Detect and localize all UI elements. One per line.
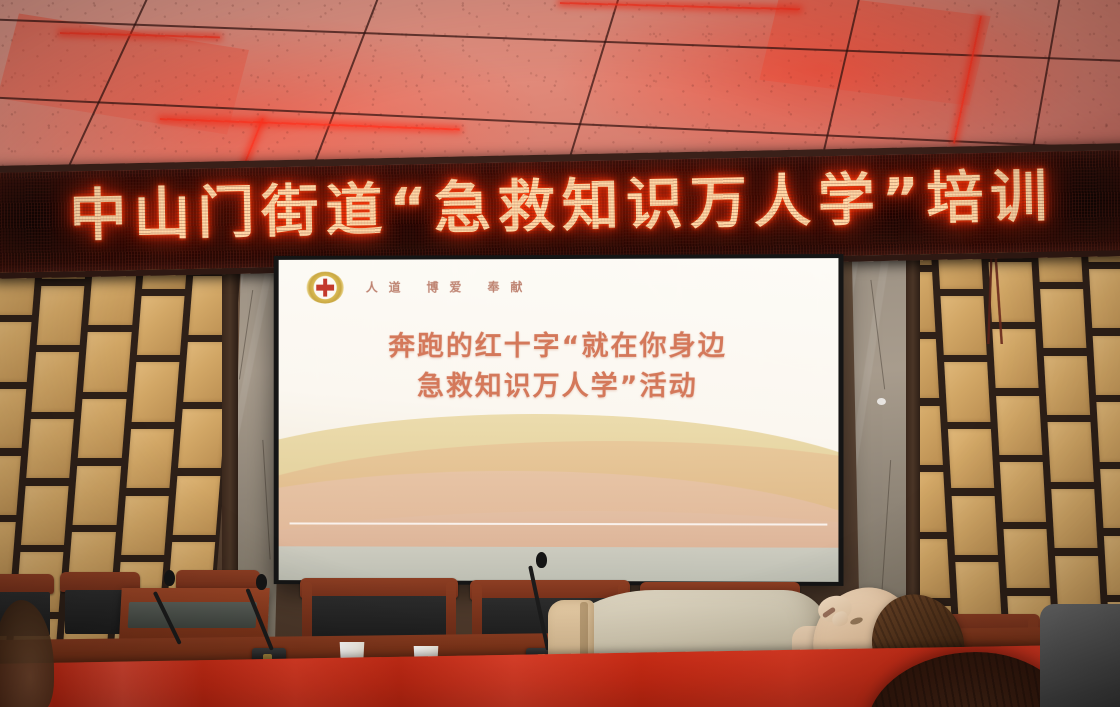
marble-vein-3 [870, 280, 885, 390]
marble-vein-2 [262, 440, 270, 560]
lattice-cell [131, 362, 179, 422]
lattice-cell [999, 462, 1045, 522]
chair-post-left [302, 582, 312, 640]
lattice-cell [137, 296, 185, 356]
microphone-capsule [536, 552, 547, 568]
chair-top-rail [300, 578, 458, 598]
marble-highlight [877, 398, 886, 405]
lattice-cell [0, 389, 26, 449]
lattice-cell [21, 486, 69, 546]
led-banner-text: 中山门街道“急救知识万人学”培训 [0, 158, 1120, 255]
conference-room-photo: 中山门街道“急救知识万人学”培训 人道 博爱 奉献 奔跑的红十字“就在你身边 急… [0, 0, 1120, 707]
lattice-cell [37, 286, 85, 346]
lattice-cell [1092, 336, 1120, 396]
microphone-capsule [256, 574, 267, 590]
lattice-cell [121, 496, 169, 556]
chair-top-rail [0, 574, 54, 594]
lattice-cell [1043, 356, 1089, 416]
projection-screen: 人道 博爱 奉献 奔跑的红十字“就在你身边 急救知识万人学”活动 [279, 258, 839, 582]
microphone-left [252, 572, 292, 668]
lattice-cell [1051, 489, 1097, 549]
lattice-cell [951, 496, 997, 556]
lattice-cell [996, 396, 1042, 456]
lattice-cell [31, 352, 79, 412]
microphone-capsule [164, 570, 175, 586]
lattice-cell [1047, 422, 1093, 482]
lattice-cell [1096, 402, 1120, 462]
lattice-cell [73, 466, 121, 526]
lattice-cell [947, 429, 993, 489]
marble-vein-1 [239, 290, 253, 379]
red-cross-icon [306, 272, 344, 304]
microphone-far-left [164, 566, 198, 646]
lattice-cell [178, 409, 226, 469]
cross-horizontal-bar [316, 284, 334, 290]
projection-screen-frame: 人道 博爱 奉献 奔跑的红十字“就在你身边 急救知识万人学”活动 [274, 254, 844, 586]
lattice-cell [1040, 289, 1086, 349]
chair-backrest [309, 596, 448, 640]
slide-title: 奔跑的红十字“就在你身边 急救知识万人学”活动 [279, 326, 839, 407]
cable-bundle [964, 252, 1020, 344]
lattice-cell [26, 419, 74, 479]
lattice-cell [173, 476, 221, 536]
lattice-cell [1100, 469, 1120, 529]
microphone-gooseneck [528, 565, 550, 650]
lattice-cell [944, 362, 990, 422]
chair-post-right [446, 582, 456, 640]
red-cross-motto: 人道 博爱 奉献 [366, 278, 534, 295]
lattice-cell [0, 456, 21, 516]
audience-shoulder-right [1040, 604, 1120, 707]
lattice-cell [83, 332, 131, 392]
lattice-cell [126, 429, 174, 489]
lattice-cell [0, 322, 31, 382]
lattice-cell [78, 399, 126, 459]
lattice-cell [1088, 269, 1120, 329]
